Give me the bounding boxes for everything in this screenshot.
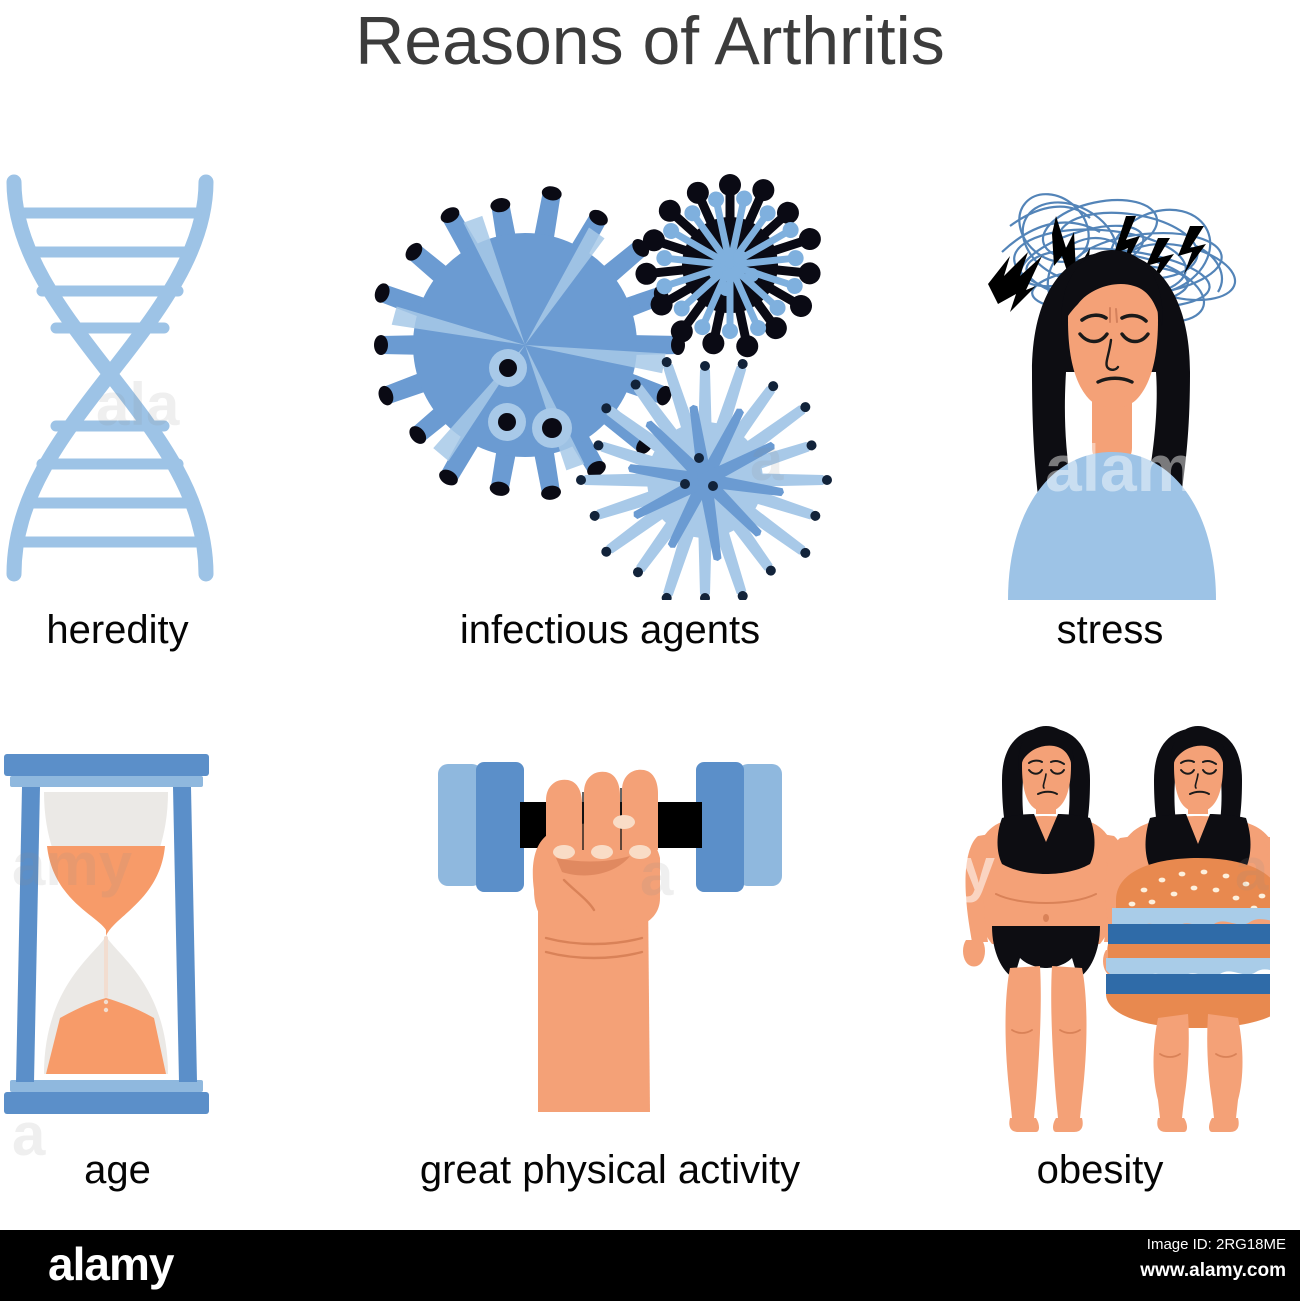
hourglass-pillar-right [173, 787, 197, 1082]
panties [992, 926, 1100, 978]
woman-right [1103, 726, 1270, 1132]
cell-age: age [0, 740, 235, 1240]
woman-left [963, 726, 1129, 1132]
dumbbell-plate-outer-left [438, 764, 482, 886]
virus-black [634, 174, 823, 359]
cell-activity: great physical activity [380, 740, 840, 1240]
hourglass-top-cap [4, 754, 209, 776]
stressed-woman-icon [950, 160, 1270, 600]
cell-heredity: heredity [0, 160, 235, 670]
burger [1106, 858, 1270, 1028]
page-title: Reasons of Arthritis [0, 2, 1300, 80]
cell-stress: stress [950, 160, 1270, 670]
virus-cluster-icon [360, 160, 860, 600]
sand-upper [47, 846, 165, 936]
dumbbell-plate-inner-left [476, 762, 524, 892]
obese-women-icon [930, 718, 1270, 1148]
cell-label-heredity: heredity [0, 608, 235, 653]
hourglass-bottom-cap [4, 1092, 209, 1114]
dna-helix-icon [0, 160, 235, 600]
cell-infectious: infectious agents [360, 160, 860, 670]
burger-mid-bun [1108, 944, 1270, 958]
alamy-footer-bar: alamy Image ID: 2RG18ME www.alamy.com [0, 1230, 1300, 1301]
cell-obesity: obesity [930, 718, 1270, 1238]
sand-stream [104, 936, 108, 1012]
cell-label-obesity: obesity [930, 1148, 1270, 1193]
alamy-logo: alamy [48, 1238, 173, 1290]
dumbbell-plate-outer-right [738, 764, 782, 886]
hourglass-icon [0, 740, 235, 1140]
infographic-canvas: Reasons of Arthritis here [0, 0, 1300, 1301]
fingers [546, 770, 658, 850]
cell-label-stress: stress [950, 608, 1270, 653]
hand-dumbbell-icon [380, 740, 840, 1140]
cell-label-infectious: infectious agents [360, 608, 860, 653]
cell-label-activity: great physical activity [380, 1148, 840, 1193]
dumbbell-plate-inner-right [696, 762, 744, 892]
burger-patty-2 [1106, 974, 1270, 994]
cell-label-age: age [0, 1148, 235, 1193]
image-id-text: Image ID: 2RG18ME [1147, 1236, 1286, 1253]
burger-patty-1 [1108, 924, 1270, 944]
hourglass-pillar-left [16, 787, 40, 1082]
alamy-url-text[interactable]: www.alamy.com [1140, 1260, 1286, 1282]
